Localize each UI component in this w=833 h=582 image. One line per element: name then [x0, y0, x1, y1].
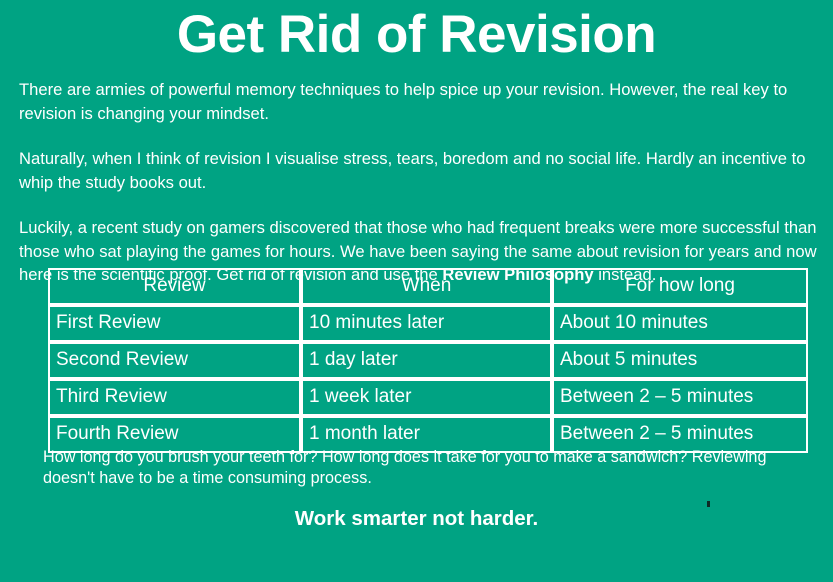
- table-header-row: Review When For how long: [48, 268, 808, 305]
- tagline: Work smarter not harder.: [0, 506, 833, 532]
- table-cell-duration: About 5 minutes: [552, 342, 808, 379]
- table-cell-review: Third Review: [48, 379, 301, 416]
- table-header-review: Review: [48, 268, 301, 305]
- table-cell-review: First Review: [48, 305, 301, 342]
- table-cell-when: 1 day later: [301, 342, 552, 379]
- slide-canvas: Get Rid of Revision There are armies of …: [0, 0, 833, 582]
- table-cell-when: 1 week later: [301, 379, 552, 416]
- table-cell-duration: Between 2 – 5 minutes: [552, 379, 808, 416]
- review-schedule-table: Review When For how long First Review 10…: [48, 268, 808, 453]
- table-cell-review: Second Review: [48, 342, 301, 379]
- table-cell-duration: About 10 minutes: [552, 305, 808, 342]
- stray-mark-artifact: [707, 501, 710, 507]
- body-copy: There are armies of powerful memory tech…: [19, 78, 819, 287]
- table-cell-when: 10 minutes later: [301, 305, 552, 342]
- paragraph-1: There are armies of powerful memory tech…: [19, 78, 819, 125]
- table-header-for-how-long: For how long: [552, 268, 808, 305]
- table-row: Second Review 1 day later About 5 minute…: [48, 342, 808, 379]
- table-header-when: When: [301, 268, 552, 305]
- table-row: First Review 10 minutes later About 10 m…: [48, 305, 808, 342]
- paragraph-2: Naturally, when I think of revision I vi…: [19, 147, 819, 194]
- page-title: Get Rid of Revision: [0, 4, 833, 66]
- table-row: Third Review 1 week later Between 2 – 5 …: [48, 379, 808, 416]
- closing-note: How long do you brush your teeth for? Ho…: [43, 447, 803, 489]
